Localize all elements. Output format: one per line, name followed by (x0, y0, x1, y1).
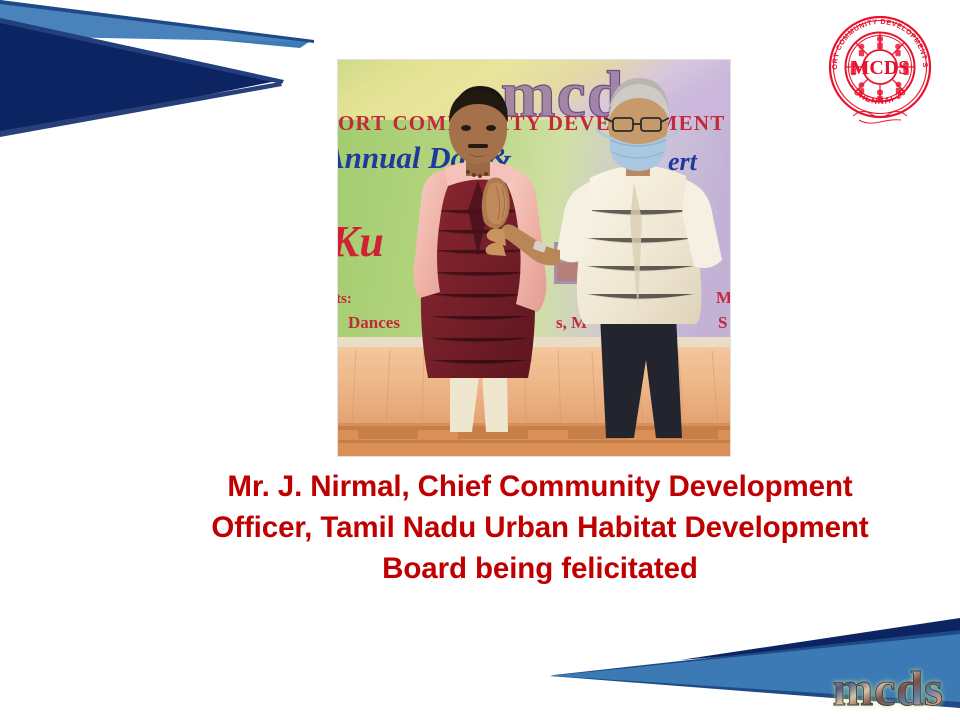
wedge-navy-main (0, 18, 282, 136)
slide-canvas: MCDS MONTFORT COMMUNITY DEVELOPMENT SOCI… (0, 0, 960, 720)
wedge-navy-bottom-top (680, 618, 960, 660)
mcds-wordmark-outline: mcds (833, 661, 944, 713)
wedge-navy-edge (0, 18, 284, 84)
wedge-navy-lower-edge (0, 82, 282, 137)
wedge-outline-top (0, 0, 314, 43)
event-photograph: mcds mcds ORT COMMUNITY DEVELOPMENT Annu… (338, 60, 730, 456)
decorative-wedge-top-left (0, 0, 330, 150)
wedge-light-blue-upper (0, 0, 312, 48)
seal-monogram: MCDS (851, 57, 910, 79)
backdrop-script-word: Ku (338, 217, 384, 266)
wedge-light-blue-fill (0, 2, 310, 42)
mcds-wordmark-logo: mcds mcds (823, 661, 954, 713)
photo-caption: Mr. J. Nirmal, Chief Community Developme… (130, 466, 950, 589)
svg-text:M: M (716, 288, 730, 307)
svg-text:ts:: ts: (338, 291, 352, 307)
svg-text:S: S (718, 313, 727, 332)
montfort-society-seal-logo: MCDS MONTFORT COMMUNITY DEVELOPMENT SOCI… (819, 6, 941, 128)
svg-text:Dances: Dances (348, 313, 400, 332)
